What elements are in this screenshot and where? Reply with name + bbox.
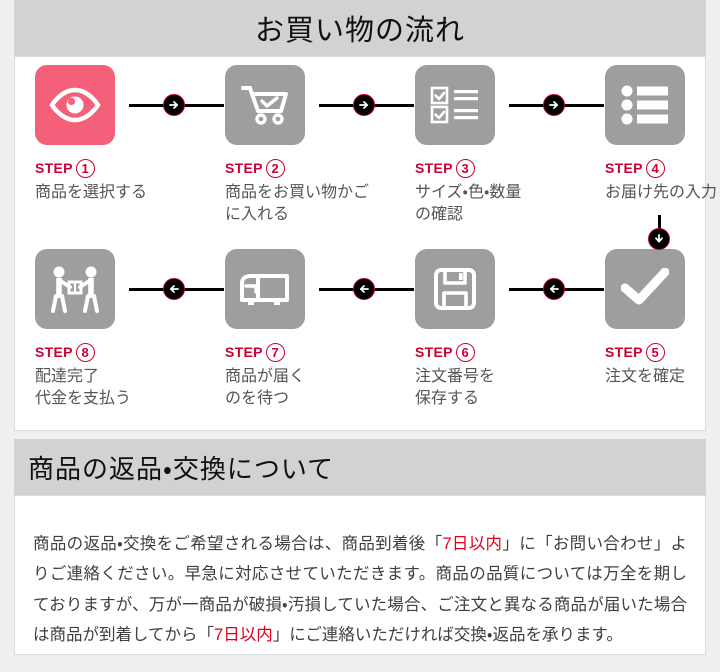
step-7-tile: [225, 249, 305, 329]
arrow-left-icon-2: [353, 278, 375, 300]
address-list-icon: [621, 85, 669, 125]
checklist-icon: [430, 86, 480, 124]
returns-title: 商品の返品・交換について: [28, 449, 334, 486]
flow-heading-band: お買い物の流れ: [14, 0, 706, 56]
step-number: 3: [456, 159, 475, 178]
handover-package-icon: [48, 265, 102, 313]
flow-panel: STEP 1 商品を選択する STEP: [14, 56, 706, 431]
step-number: 5: [646, 343, 665, 362]
eye-icon: [49, 87, 101, 123]
step-8-tile: [35, 249, 115, 329]
step-prefix: STEP: [225, 344, 263, 360]
step-1-label: STEP 1: [35, 157, 199, 179]
returns-text-panel: 商品の返品・交換をご希望される場合は、商品到着後「7日以内」に「お問い合わせ」よ…: [14, 495, 706, 655]
step-7-label: STEP 7: [225, 341, 389, 363]
step-number: 4: [646, 159, 665, 178]
step-number: 1: [76, 159, 95, 178]
step-4-label: STEP 4: [605, 157, 720, 179]
step-2-label: STEP 2: [225, 157, 389, 179]
returns-body-text: 商品の返品・交換をご希望される場合は、商品到着後「7日以内」に「お問い合わせ」よ…: [33, 529, 687, 651]
returns-text-part1: 商品の返品・交換をご希望される場合は、商品到着後「: [33, 535, 442, 553]
returns-heading-band: 商品の返品・交換について: [14, 439, 706, 495]
step-5-tile: [605, 249, 685, 329]
step-5-text: 注文を確定: [605, 366, 720, 388]
step-5-label: STEP 5: [605, 341, 720, 363]
step-number: 6: [456, 343, 475, 362]
step-number: 7: [266, 343, 285, 362]
step-prefix: STEP: [35, 344, 73, 360]
step-number: 2: [266, 159, 285, 178]
floppy-save-icon: [433, 267, 477, 311]
arrow-left-icon-3: [543, 278, 565, 300]
arrow-right-icon-3: [543, 94, 565, 116]
step-prefix: STEP: [605, 344, 643, 360]
arrow-left-icon-1: [163, 278, 185, 300]
flow-row-2: STEP 8 配達完了 代金を支払う STEP: [15, 249, 705, 433]
step-prefix: STEP: [35, 160, 73, 176]
step-prefix: STEP: [605, 160, 643, 176]
arrow-down-icon: [648, 228, 670, 250]
step-item-2[interactable]: STEP 2 商品をお買い物かご に入れる: [225, 65, 389, 227]
checkmark-icon: [621, 268, 669, 310]
step-6-label: STEP 6: [415, 341, 579, 363]
step-2-tile: [225, 65, 305, 145]
step-number: 8: [76, 343, 95, 362]
step-item-1[interactable]: STEP 1 商品を選択する: [35, 65, 199, 204]
step-item-3[interactable]: STEP 3 サイズ・色・数量 の確認: [415, 65, 579, 227]
arrow-right-icon-1: [163, 94, 185, 116]
step-2-text: 商品をお買い物かご に入れる: [225, 182, 389, 227]
step-item-5[interactable]: STEP 5 注文を確定: [605, 249, 720, 388]
step-item-7[interactable]: STEP 7 商品が届く のを待つ: [225, 249, 389, 411]
step-item-4[interactable]: STEP 4 お届け先の入力: [605, 65, 720, 204]
step-4-tile: [605, 65, 685, 145]
step-3-label: STEP 3: [415, 157, 579, 179]
step-prefix: STEP: [225, 160, 263, 176]
step-prefix: STEP: [415, 160, 453, 176]
step-item-8[interactable]: STEP 8 配達完了 代金を支払う: [35, 249, 199, 411]
step-8-label: STEP 8: [35, 341, 199, 363]
step-item-6[interactable]: STEP 6 注文番号を 保存する: [415, 249, 579, 411]
delivery-truck-icon: [238, 269, 292, 309]
step-6-tile: [415, 249, 495, 329]
step-3-text: サイズ・色・数量 の確認: [415, 182, 579, 227]
arrow-right-icon-2: [353, 94, 375, 116]
step-4-text: お届け先の入力: [605, 182, 720, 204]
step-1-tile: [35, 65, 115, 145]
returns-days-1: 7日以内: [442, 535, 502, 553]
shopping-flow-page: お買い物の流れ: [0, 0, 720, 672]
step-prefix: STEP: [415, 344, 453, 360]
step-3-tile: [415, 65, 495, 145]
shopping-cart-icon: [240, 82, 290, 128]
step-6-text: 注文番号を 保存する: [415, 366, 579, 411]
returns-text-part3: 」にご連絡いただければ交換・返品を承ります。: [273, 626, 623, 644]
step-7-text: 商品が届く のを待つ: [225, 366, 389, 411]
returns-days-2: 7日以内: [214, 626, 273, 644]
flow-row-1: STEP 1 商品を選択する STEP: [15, 65, 705, 249]
step-8-text: 配達完了 代金を支払う: [35, 366, 199, 411]
step-1-text: 商品を選択する: [35, 182, 199, 204]
page-title: お買い物の流れ: [255, 7, 465, 49]
